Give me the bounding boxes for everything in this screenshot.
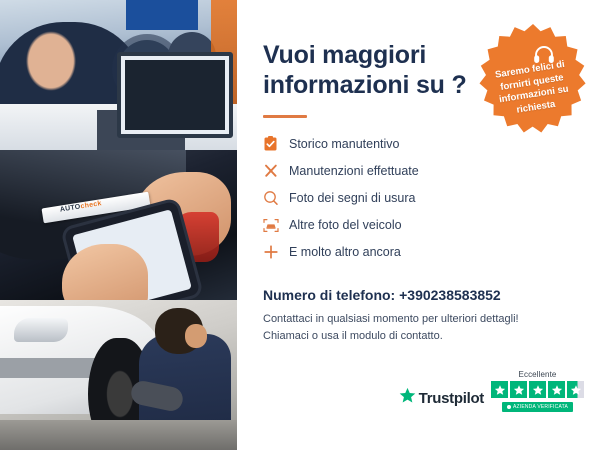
plus-icon <box>263 244 289 260</box>
check-dot-icon <box>507 405 511 409</box>
contact-subtext-line-1: Contattaci in qualsiasi momento per ulte… <box>263 311 578 328</box>
paint-gauge-photo: AUTOcheck <box>0 150 237 300</box>
trustpilot-widget[interactable]: Trustpilot Eccellente AZIENDA VERIFICATA <box>399 370 584 412</box>
list-item-label: Foto dei segni di usura <box>289 191 415 205</box>
rating-star <box>529 381 546 398</box>
clipboard-check-icon <box>263 136 289 152</box>
content-panel: Vuoi maggiori informazioni su ? Storico … <box>237 0 600 450</box>
phone-number-line: Numero di telefono: +390238583852 <box>263 287 578 303</box>
magnifier-icon <box>263 190 289 206</box>
contact-subtext-line-2: Chiamaci o usa il modulo di contatto. <box>263 328 578 345</box>
trustpilot-logo: Trustpilot <box>399 387 484 412</box>
mechanic-face <box>185 324 207 348</box>
rating-star <box>548 381 565 398</box>
title-underline-rule <box>263 115 307 118</box>
advertisement-card: AUTOcheck Vuoi maggiori informazioni su … <box>0 0 600 450</box>
wall-banner <box>126 0 198 30</box>
trustpilot-stars <box>491 381 584 398</box>
list-item-label: Altre foto del veicolo <box>289 218 402 232</box>
feature-list: Storico manutentivo Manutenzioni effettu… <box>263 131 578 265</box>
trustpilot-rating-label: Eccellente <box>519 370 557 379</box>
list-item-label: E molto altro ancora <box>289 245 401 259</box>
rating-star <box>510 381 527 398</box>
gauge-brand-text: AUTOcheck <box>59 200 102 214</box>
car-scan-icon <box>263 218 289 233</box>
call-center-photo <box>0 0 237 150</box>
list-item-label: Storico manutentivo <box>289 137 399 151</box>
trustpilot-brand-name: Trustpilot <box>419 390 484 407</box>
rating-star-half <box>567 381 584 398</box>
page-title: Vuoi maggiori informazioni su ? <box>263 40 473 100</box>
vehicle-lift-platform <box>0 420 237 450</box>
list-item: Foto dei segni di usura <box>263 185 578 211</box>
list-item: Altre foto del veicolo <box>263 212 578 238</box>
mechanic-lift-photo <box>0 300 237 450</box>
photo-strip: AUTOcheck <box>0 0 237 450</box>
third-agent <box>168 32 216 80</box>
rating-star <box>491 381 508 398</box>
verified-business-label: AZIENDA VERIFICATA <box>513 404 568 410</box>
list-item: Manutenzioni effettuate <box>263 158 578 184</box>
list-item: E molto altro ancora <box>263 239 578 265</box>
car-headlight <box>14 318 68 342</box>
contact-subtext: Contattaci in qualsiasi momento per ulte… <box>263 311 578 345</box>
trustpilot-star-icon <box>399 387 416 409</box>
desk-surface <box>0 104 237 150</box>
list-item-label: Manutenzioni effettuate <box>289 164 419 178</box>
trustpilot-rating-block: Eccellente AZIENDA VERIFICATA <box>491 370 584 412</box>
verified-business-badge: AZIENDA VERIFICATA <box>502 402 573 412</box>
second-agent <box>118 40 176 98</box>
status-badge: Saremo felici di fornirti queste informa… <box>473 22 593 142</box>
tools-cross-icon <box>263 163 289 179</box>
